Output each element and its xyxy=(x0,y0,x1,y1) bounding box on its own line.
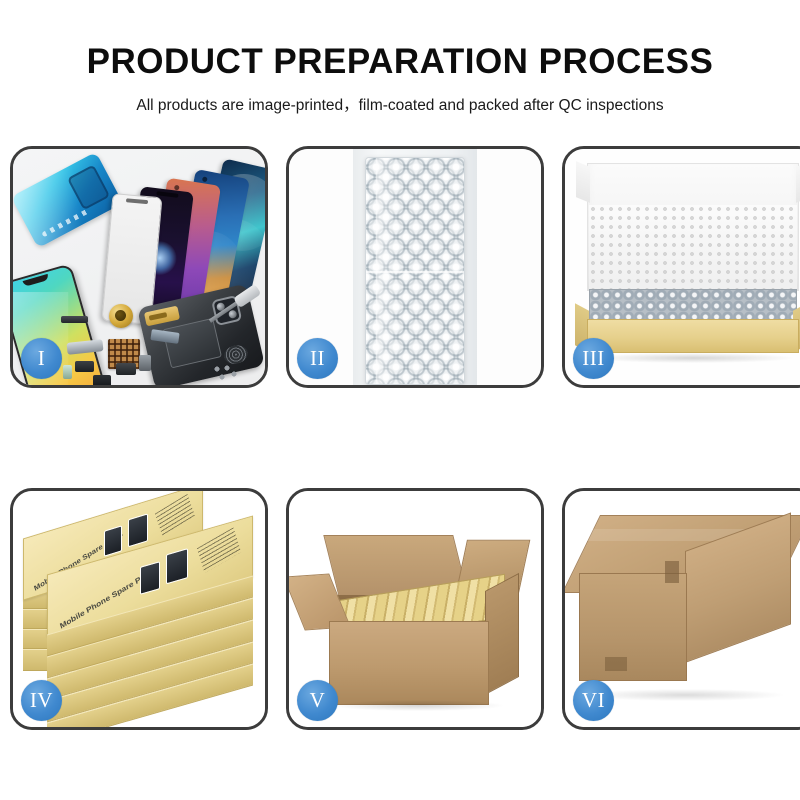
panel-6-photo: VI xyxy=(565,491,800,727)
process-step-3-open-white-box: III xyxy=(562,146,800,388)
header: PRODUCT PREPARATION PROCESS All products… xyxy=(0,0,800,115)
phone-notch xyxy=(126,198,148,204)
step-badge-2: II xyxy=(297,338,338,379)
panel-1-photo: 08:08 xyxy=(13,149,265,385)
phone-notch xyxy=(23,274,50,287)
wireless-charging-coil xyxy=(222,343,249,366)
drop-shadow xyxy=(333,700,503,711)
film-sheen xyxy=(13,155,88,248)
process-step-1-phones-and-spare-parts: 08:08 xyxy=(10,146,268,388)
process-step-4-stacked-retail-boxes: Mobile Phone Spare Parts Mobile Phone Sp… xyxy=(10,488,268,730)
flex-cable-connector-part xyxy=(66,339,103,355)
box-screen-graphic xyxy=(104,525,122,557)
step-badge-5: V xyxy=(297,680,338,721)
box-screen-graphic xyxy=(140,561,160,595)
page-title: PRODUCT PREPARATION PROCESS xyxy=(0,42,800,82)
process-step-5-open-carton: V xyxy=(286,488,544,730)
earpiece-bar-part xyxy=(61,316,88,323)
process-step-2-bubble-wrap: II xyxy=(286,146,544,388)
box-front-panel-yellow xyxy=(587,319,799,353)
panel-5-photo: V xyxy=(289,491,541,727)
bubble-wrap-seam xyxy=(366,271,464,273)
speaker-part xyxy=(75,361,94,372)
box-foam-liner xyxy=(589,205,797,291)
bubble-wrapped-contents xyxy=(589,289,797,321)
speaker-part xyxy=(116,363,136,375)
drop-shadow xyxy=(593,353,793,363)
phone-notch xyxy=(156,191,178,198)
panel-4-photo: Mobile Phone Spare Parts Mobile Phone Sp… xyxy=(13,491,265,727)
process-step-grid: 08:08 xyxy=(10,146,792,730)
bubble-wrap-pouch xyxy=(365,157,465,385)
step-badge-1: I xyxy=(21,338,62,379)
panel-2-photo: II xyxy=(289,149,541,385)
vibration-motor-part xyxy=(139,355,151,371)
carton-side-face xyxy=(485,573,519,695)
box-screen-graphic xyxy=(166,548,188,584)
drop-shadow xyxy=(587,689,783,701)
process-step-6-sealed-carton: VI xyxy=(562,488,800,730)
carton-front-face xyxy=(329,621,489,705)
carton-front-face xyxy=(579,573,687,681)
panel-3-photo: III xyxy=(565,149,800,385)
punch-hole-camera xyxy=(202,176,208,182)
gold-camera-lens-part xyxy=(109,304,133,328)
step-badge-3: III xyxy=(573,338,614,379)
carton-tape-upper xyxy=(665,561,679,583)
step-badge-6: VI xyxy=(573,680,614,721)
sim-tray-part xyxy=(63,365,72,379)
button-flex-part xyxy=(93,375,111,385)
carton-tape-lower xyxy=(605,657,627,671)
product-preparation-infographic: PRODUCT PREPARATION PROCESS All products… xyxy=(0,0,800,800)
page-subtitle: All products are image-printed，film-coat… xyxy=(0,93,800,115)
screws-part xyxy=(213,365,239,381)
step-badge-4: IV xyxy=(21,680,62,721)
